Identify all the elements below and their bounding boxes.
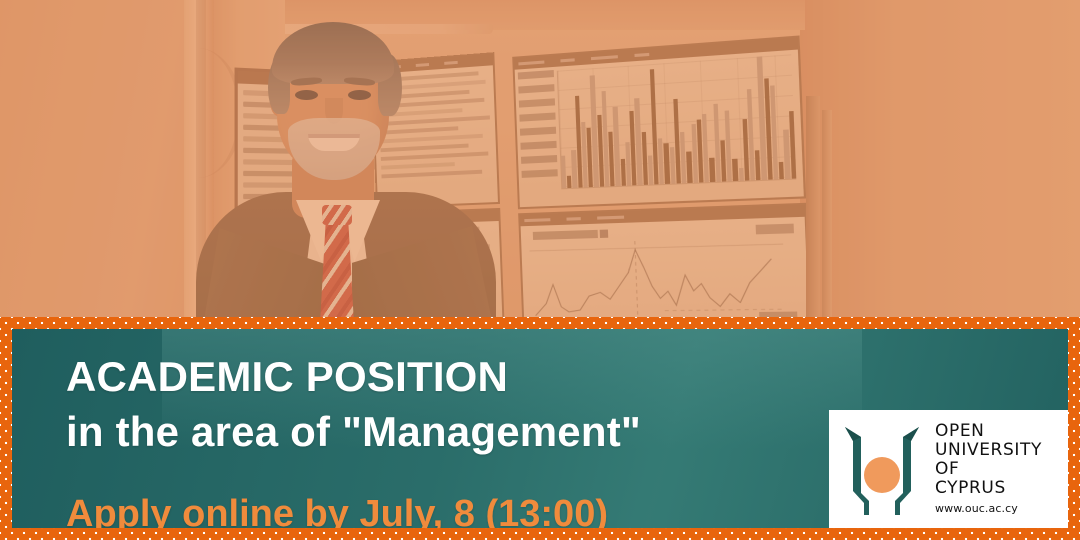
banner-headline: ACADEMIC POSITION in the area of "Manage…	[66, 349, 641, 460]
announcement-banner: ACADEMIC POSITION in the area of "Manage…	[0, 317, 1080, 540]
headline-line-2: in the area of "Management"	[66, 404, 641, 459]
academic-position-poster: ACADEMIC POSITION in the area of "Manage…	[0, 0, 1080, 540]
ouc-emblem-icon	[839, 419, 925, 519]
apply-deadline-text: Apply online by July, 8 (13:00)	[66, 493, 608, 528]
university-logo[interactable]: OPEN UNIVERSITY OF CYPRUS www.ouc.ac.cy	[829, 410, 1068, 528]
logo-line-2: UNIVERSITY OF	[935, 441, 1066, 479]
banner-inner-panel: ACADEMIC POSITION in the area of "Manage…	[12, 329, 1068, 528]
headline-line-1: ACADEMIC POSITION	[66, 349, 641, 404]
logo-line-1: OPEN	[935, 422, 1066, 441]
logo-line-3: CYPRUS	[935, 479, 1066, 498]
logo-url: www.ouc.ac.cy	[935, 503, 1066, 515]
logo-wordmark: OPEN UNIVERSITY OF CYPRUS www.ouc.ac.cy	[935, 422, 1066, 515]
